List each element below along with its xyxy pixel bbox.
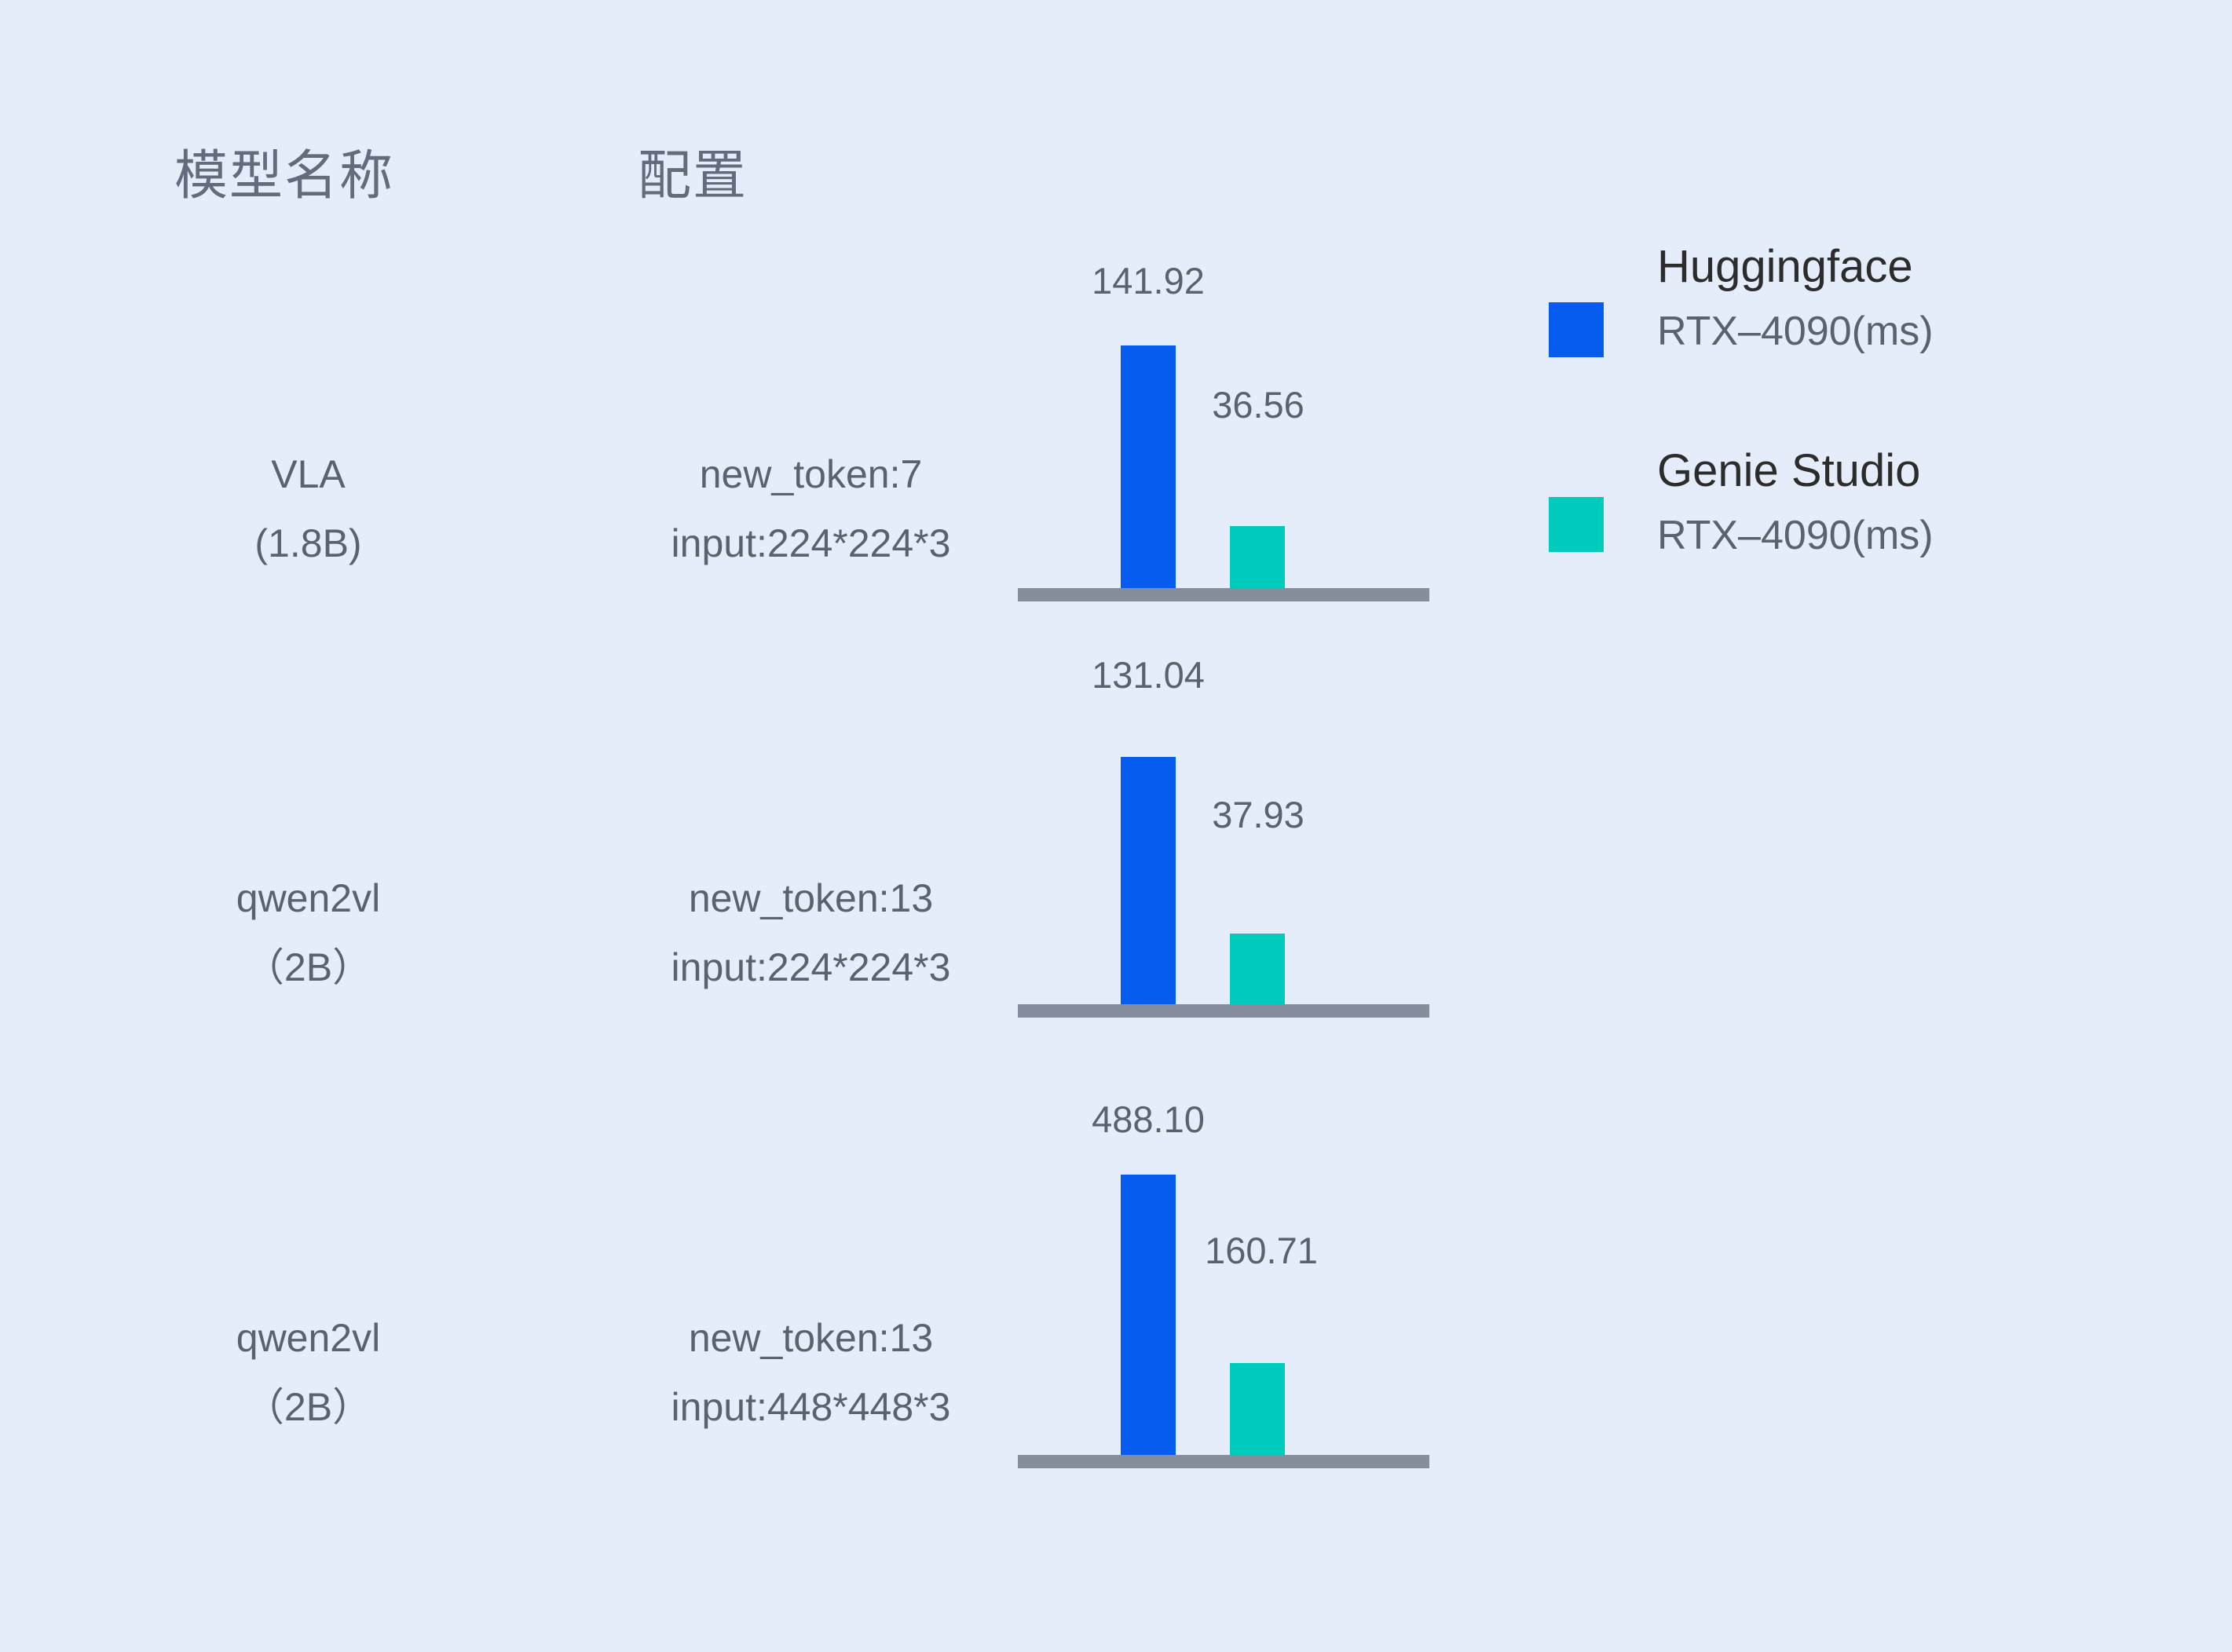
- huggingface-value-label: 131.04: [1092, 653, 1205, 696]
- legend-title: Genie Studio: [1657, 440, 1934, 503]
- chart-baseline: [1018, 1455, 1429, 1468]
- bar-chart-row-1: 131.04 37.93: [1018, 707, 1436, 1018]
- legend-label-group: Genie Studio RTX–4090(ms): [1657, 440, 1934, 568]
- legend-label-group: Huggingface RTX–4090(ms): [1657, 236, 1934, 364]
- bar-chart-row-2: 488.10 160.71: [1018, 1154, 1436, 1468]
- chart-baseline: [1018, 1004, 1429, 1018]
- chart-baseline: [1018, 588, 1429, 601]
- legend-item-huggingface[interactable]: Huggingface RTX–4090(ms): [1539, 236, 2215, 440]
- slide-canvas: 模型名称 配置 VLA (1.8B) new_token:7 input:224…: [0, 0, 2232, 1652]
- genie-studio-bar: [1230, 1363, 1285, 1455]
- genie-studio-bar: [1230, 934, 1285, 1004]
- column-header-config: 配置: [638, 132, 748, 210]
- huggingface-value-label: 488.10: [1092, 1098, 1205, 1141]
- column-header-model-name: 模型名称: [174, 132, 394, 210]
- huggingface-bar: [1121, 757, 1176, 1004]
- blue-square-swatch-icon: [1549, 302, 1604, 357]
- chart-legend: Huggingface RTX–4090(ms) Genie Studio RT…: [1539, 236, 2215, 644]
- huggingface-bar: [1121, 345, 1176, 588]
- legend-subtitle: RTX–4090(ms): [1657, 298, 1934, 364]
- genie-value-label: 37.93: [1212, 793, 1304, 836]
- genie-studio-bar: [1230, 526, 1285, 588]
- genie-value-label: 160.71: [1205, 1229, 1318, 1272]
- legend-subtitle: RTX–4090(ms): [1657, 503, 1934, 568]
- legend-title: Huggingface: [1657, 236, 1934, 298]
- bar-chart-row-0: 141.92 36.56: [1018, 314, 1436, 601]
- genie-value-label: 36.56: [1212, 383, 1304, 426]
- huggingface-bar: [1121, 1175, 1176, 1468]
- huggingface-value-label: 141.92: [1092, 259, 1205, 302]
- legend-item-genie-studio[interactable]: Genie Studio RTX–4090(ms): [1539, 440, 2215, 644]
- teal-square-swatch-icon: [1549, 497, 1604, 552]
